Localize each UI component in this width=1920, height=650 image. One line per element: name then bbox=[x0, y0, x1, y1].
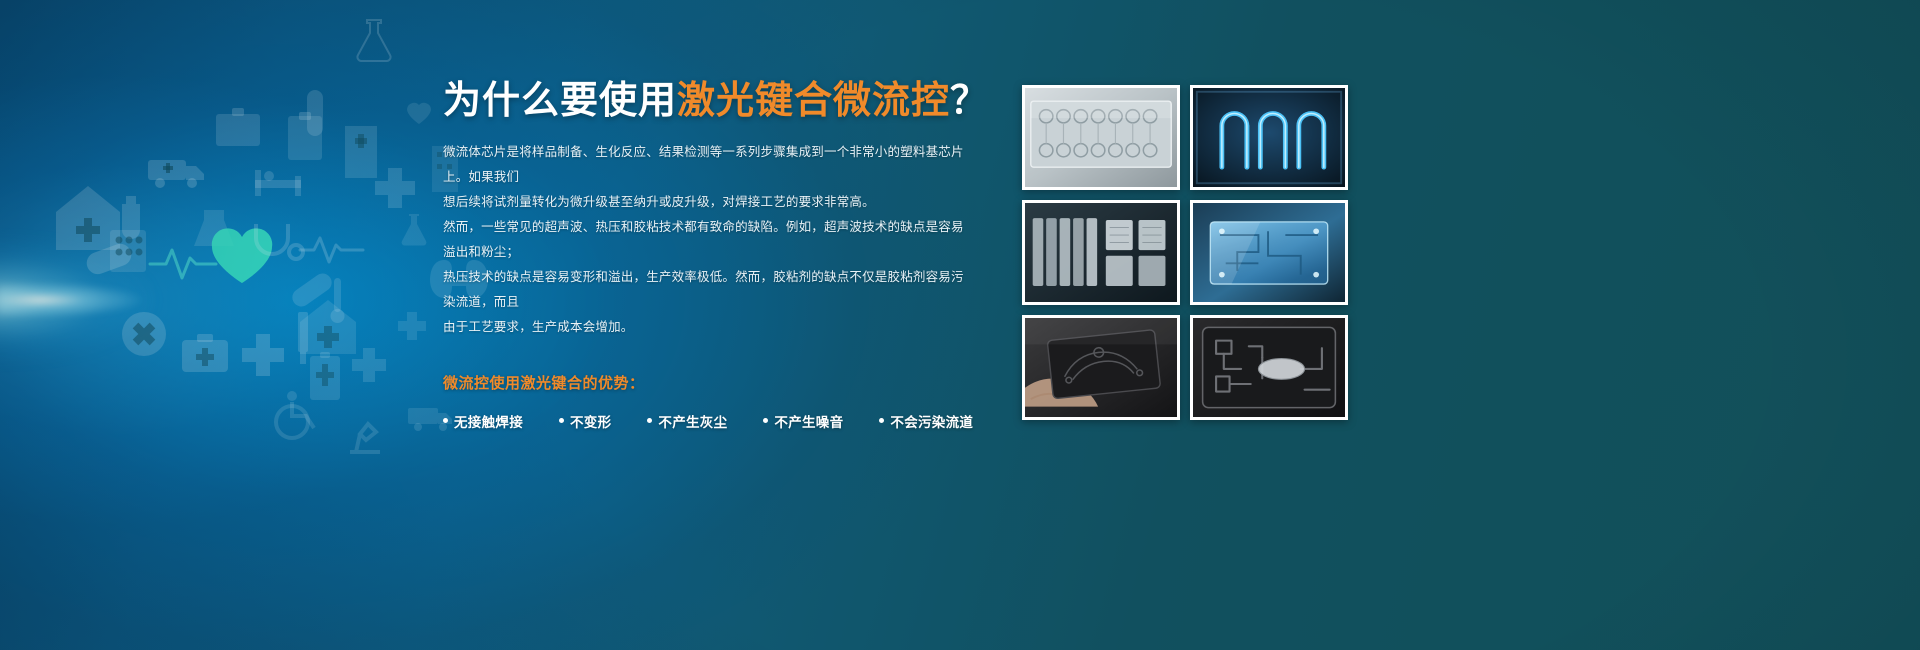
clinic-house-icon-2 bbox=[300, 300, 356, 354]
first-aid-kit-icon bbox=[182, 334, 228, 372]
microscope-icon bbox=[350, 424, 380, 452]
list-item-label: 不产生灰尘 bbox=[658, 411, 727, 431]
gallery-item-microfluidic-chip-serpentine-channel[interactable] bbox=[1190, 85, 1348, 190]
flask-icon-2 bbox=[402, 214, 427, 246]
id-card-icon bbox=[216, 108, 260, 146]
wheelchair-icon bbox=[276, 391, 314, 438]
ekg-line-icon bbox=[150, 250, 216, 278]
paragraph-line: 然而，一些常见的超声波、热压和胶粘技术都有致命的缺陷。例如，超声波技术的缺点是容… bbox=[443, 215, 973, 265]
ekg-line-icon-2 bbox=[300, 238, 363, 262]
hospital-bed-icon bbox=[255, 170, 301, 196]
battery-icon bbox=[310, 352, 340, 400]
ambulance-icon bbox=[148, 160, 204, 188]
gallery-item-microfluidic-chip-black-handheld[interactable] bbox=[1022, 315, 1180, 420]
gallery-item-microfluidic-chip-strip-array[interactable] bbox=[1022, 200, 1180, 305]
paragraph-line: 热压技术的缺点是容易变形和溢出，生产效率极低。然而，胶粘剂的缺点不仅是胶粘剂容易… bbox=[443, 265, 973, 315]
flask-icon bbox=[357, 20, 390, 61]
list-item: 不变形 bbox=[559, 411, 611, 431]
title-plain: 为什么要使用 bbox=[443, 80, 677, 122]
list-item: 不产生噪音 bbox=[763, 411, 843, 431]
advantages-heading: 微流控使用激光键合的优势： bbox=[443, 372, 973, 393]
gallery-item-microfluidic-chip-black-cartridge[interactable] bbox=[1190, 315, 1348, 420]
banner-content: 为什么要使用激光键合微流控？ 微流体芯片是将样品制备、生化反应、结果检测等一系列… bbox=[443, 80, 973, 431]
beaker-icon bbox=[194, 210, 234, 246]
heart-icon bbox=[212, 228, 272, 283]
stethoscope-icon bbox=[256, 224, 303, 259]
clinic-house-icon bbox=[56, 186, 120, 250]
promo-banner: 为什么要使用激光键合微流控？ 微流体芯片是将样品制备、生化反应、结果检测等一系列… bbox=[0, 0, 1920, 650]
list-item-label: 不变形 bbox=[570, 411, 611, 431]
light-beam-glow bbox=[0, 170, 360, 430]
list-item-label: 无接触焊接 bbox=[454, 411, 523, 431]
bullet-dot-icon bbox=[443, 418, 448, 423]
paragraph-line: 由于工艺要求，生产成本会增加。 bbox=[443, 315, 973, 340]
test-tube-icon bbox=[307, 90, 323, 136]
title-suffix: ？ bbox=[950, 80, 989, 122]
hospital-building-icon bbox=[345, 126, 377, 178]
pill-pack-icon bbox=[110, 230, 146, 272]
thermometer-icon bbox=[331, 278, 345, 323]
advantages-list: 无接触焊接 不变形 不产生灰尘 不产生噪音 不会污染流道 bbox=[443, 411, 973, 431]
medical-cross-icon-2 bbox=[242, 334, 284, 376]
medical-cross-icon bbox=[375, 168, 415, 208]
gallery-item-microfluidic-chip-blue-transparent[interactable] bbox=[1190, 200, 1348, 305]
plus-circle-icon bbox=[122, 312, 166, 356]
bullet-dot-icon bbox=[879, 418, 884, 423]
gallery-item-microfluidic-chip-round-wells[interactable] bbox=[1022, 85, 1180, 190]
medical-cross-icon-3 bbox=[352, 348, 386, 382]
paragraph-line: 微流体芯片是将样品制备、生化反应、结果检测等一系列步骤集成到一个非常小的塑料基芯… bbox=[443, 140, 973, 190]
heart-icon-2 bbox=[407, 103, 431, 124]
bandage-icon bbox=[289, 270, 335, 310]
product-gallery bbox=[1022, 85, 1348, 420]
syringe-icon bbox=[298, 312, 308, 364]
clipboard-icon bbox=[288, 112, 322, 160]
list-item-label: 不产生噪音 bbox=[774, 411, 843, 431]
bullet-dot-icon bbox=[647, 418, 652, 423]
light-beam-core bbox=[0, 250, 300, 350]
bullet-dot-icon bbox=[763, 418, 768, 423]
capsule-icon bbox=[84, 241, 135, 277]
page-title: 为什么要使用激光键合微流控？ bbox=[443, 80, 973, 124]
list-item-label: 不会污染流道 bbox=[890, 411, 973, 431]
list-item: 不会污染流道 bbox=[879, 411, 973, 431]
title-highlight: 激光键合微流控 bbox=[677, 80, 950, 122]
list-item: 无接触焊接 bbox=[443, 411, 523, 431]
paragraph-line: 想后续将试剂量转化为微升级甚至纳升或皮升级，对焊接工艺的要求非常高。 bbox=[443, 190, 973, 215]
potion-bottle-icon bbox=[122, 196, 140, 239]
list-item: 不产生灰尘 bbox=[647, 411, 727, 431]
medical-cross-icon-4 bbox=[398, 312, 426, 340]
description-paragraphs: 微流体芯片是将样品制备、生化反应、结果检测等一系列步骤集成到一个非常小的塑料基芯… bbox=[443, 140, 973, 340]
bullet-dot-icon bbox=[559, 418, 564, 423]
